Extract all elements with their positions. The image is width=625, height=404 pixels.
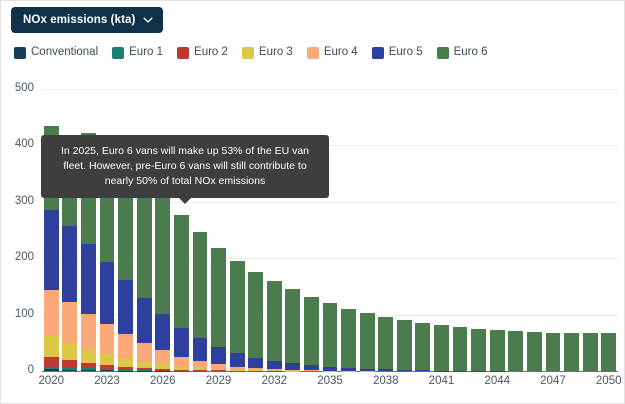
- x-axis-tick-label: 2038: [373, 375, 399, 387]
- x-axis-tick-label: 2026: [150, 375, 176, 387]
- x-axis-tick-label: 2047: [540, 375, 566, 387]
- legend-item-label: Euro 2: [194, 47, 228, 59]
- annotation-tooltip: In 2025, Euro 6 vans will make up 53% of…: [41, 135, 329, 198]
- legend-item-euro-3[interactable]: Euro 3: [242, 47, 293, 59]
- tooltip-tail: [179, 198, 191, 204]
- legend-swatch-icon: [112, 47, 124, 59]
- x-axis-tick-label: 2035: [317, 375, 343, 387]
- x-axis-tick-label: 2032: [261, 375, 287, 387]
- legend-item-label: Euro 5: [389, 47, 423, 59]
- legend-swatch-icon: [177, 47, 189, 59]
- legend-item-conventional[interactable]: Conventional: [14, 47, 98, 59]
- legend-item-euro-5[interactable]: Euro 5: [372, 47, 423, 59]
- legend-item-label: Euro 1: [129, 47, 163, 59]
- legend-item-euro-2[interactable]: Euro 2: [177, 47, 228, 59]
- annotation-tooltip-text: In 2025, Euro 6 vans will make up 53% of…: [61, 145, 309, 187]
- metric-select-dropdown[interactable]: NOx emissions (kta): [11, 7, 163, 33]
- x-axis-tick-label: 2029: [206, 375, 232, 387]
- x-axis-tick-label: 2020: [38, 375, 64, 387]
- chevron-down-icon: [143, 15, 152, 24]
- legend-item-euro-4[interactable]: Euro 4: [307, 47, 358, 59]
- legend-item-label: Euro 4: [324, 47, 358, 59]
- legend-item-label: Conventional: [31, 47, 98, 59]
- legend-item-label: Euro 6: [454, 47, 488, 59]
- chart-legend: ConventionalEuro 1Euro 2Euro 3Euro 4Euro…: [14, 47, 496, 59]
- metric-select-label: NOx emissions (kta): [23, 14, 135, 26]
- legend-item-euro-1[interactable]: Euro 1: [112, 47, 163, 59]
- legend-swatch-icon: [372, 47, 384, 59]
- chart-widget: NOx emissions (kta) ConventionalEuro 1Eu…: [0, 0, 625, 404]
- legend-swatch-icon: [14, 47, 26, 59]
- legend-swatch-icon: [242, 47, 254, 59]
- x-axis-tick-label: 2044: [484, 375, 510, 387]
- x-axis-layer: 2020202320262029203220352038204120442047…: [1, 73, 625, 404]
- legend-swatch-icon: [437, 47, 449, 59]
- legend-swatch-icon: [307, 47, 319, 59]
- legend-item-label: Euro 3: [259, 47, 293, 59]
- x-axis-tick-label: 2050: [596, 375, 622, 387]
- plot-area: 0100200300400500 20202023202620292032203…: [1, 73, 625, 404]
- x-axis-tick-label: 2041: [429, 375, 455, 387]
- legend-item-euro-6[interactable]: Euro 6: [437, 47, 488, 59]
- x-axis-tick-label: 2023: [94, 375, 120, 387]
